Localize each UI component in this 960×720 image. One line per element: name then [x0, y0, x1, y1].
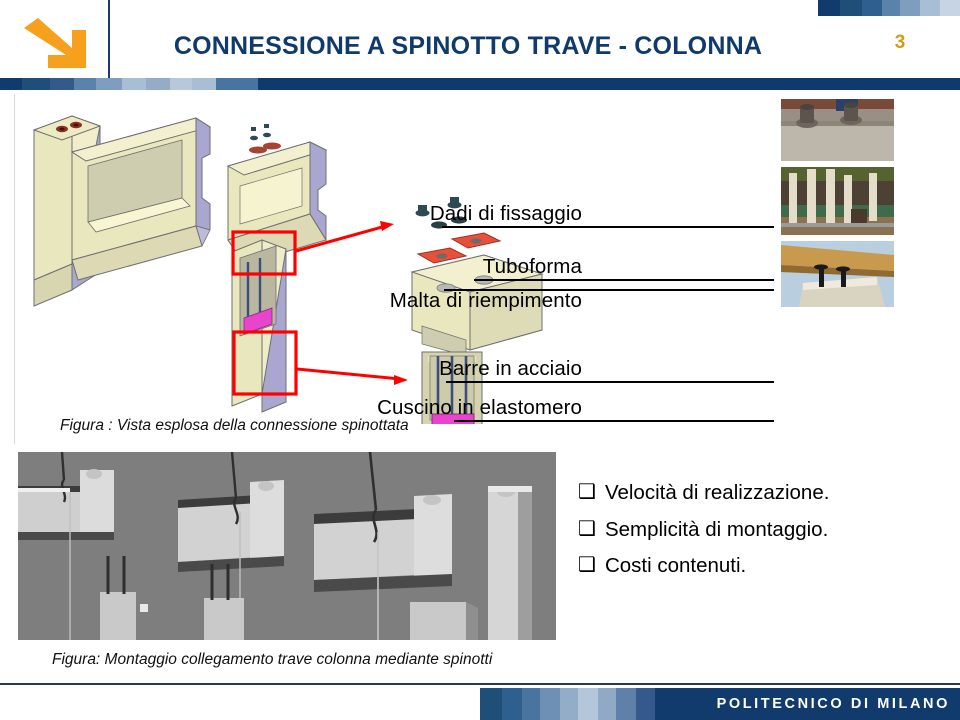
decorative-block	[192, 78, 216, 90]
slide: CONNESSIONE A SPINOTTO TRAVE - COLONNA 3	[0, 0, 960, 720]
list-item: ❑ Semplicità di montaggio.	[578, 519, 938, 541]
decorative-block	[840, 0, 862, 16]
label-malta: Malta di riempimento	[390, 289, 582, 313]
slide-header: CONNESSIONE A SPINOTTO TRAVE - COLONNA 3	[0, 0, 960, 84]
decorative-block	[74, 78, 96, 90]
footer-rule	[0, 683, 960, 685]
checkbox-bullet-icon: ❑	[578, 482, 596, 502]
label-barre: Barre in acciaio	[439, 357, 582, 381]
decorative-block	[560, 688, 578, 720]
decorative-block	[578, 688, 598, 720]
decorative-block	[216, 78, 258, 90]
decorative-block	[22, 78, 50, 90]
decorative-block	[170, 78, 192, 90]
figure-caption-top: Figura : Vista esplosa della connessione…	[60, 417, 409, 435]
decorative-block	[122, 78, 146, 90]
decorative-block	[862, 0, 882, 16]
page-title: CONNESSIONE A SPINOTTO TRAVE - COLONNA	[118, 26, 818, 66]
decorative-block	[50, 78, 74, 90]
header-decorative-blocks	[818, 0, 960, 16]
decorative-block	[920, 0, 940, 16]
header-bar-blocks	[0, 78, 258, 90]
list-item: ❑ Velocità di realizzazione.	[578, 482, 938, 504]
arrow-down-right-icon	[18, 18, 88, 72]
decorative-block	[146, 78, 170, 90]
checkbox-bullet-icon: ❑	[578, 555, 596, 575]
advantages-list: ❑ Velocità di realizzazione. ❑ Semplicit…	[578, 482, 938, 592]
cad-drawing	[14, 94, 774, 424]
list-item: ❑ Costi contenuti.	[578, 555, 938, 577]
photo-beam-column-joint	[781, 241, 894, 307]
decorative-block	[940, 0, 960, 16]
slide-footer: POLITECNICO DI MILANO	[0, 688, 960, 720]
decorative-block	[900, 0, 920, 16]
header-vertical-rule	[108, 0, 110, 78]
leader-arrow-bottom	[297, 369, 408, 385]
decorative-block	[96, 78, 122, 90]
footer-decorative-blocks	[480, 688, 655, 720]
decorative-block	[0, 78, 22, 90]
figure-caption-bottom: Figura: Montaggio collegamento trave col…	[52, 651, 492, 669]
decorative-block	[636, 688, 655, 720]
decorative-block	[502, 688, 522, 720]
decorative-block	[540, 688, 560, 720]
label-tuboforma: Tuboforma	[483, 255, 582, 279]
decorative-block	[882, 0, 900, 16]
list-item-label: Semplicità di montaggio.	[605, 519, 828, 541]
checkbox-bullet-icon: ❑	[578, 519, 596, 539]
decorative-block	[522, 688, 540, 720]
decorative-block	[598, 688, 616, 720]
decorative-block	[616, 688, 636, 720]
decorative-block	[818, 0, 840, 16]
exploded-diagram: Dadi di fissaggio Tuboforma Malta di rie…	[14, 94, 774, 424]
assembled-view	[34, 116, 210, 306]
decorative-block	[480, 688, 502, 720]
photo-bolts-on-concrete	[781, 99, 894, 161]
label-dadi: Dadi di fissaggio	[430, 202, 582, 226]
erection-photo	[18, 452, 556, 640]
header-bottom-bar	[0, 78, 960, 90]
list-item-label: Costi contenuti.	[605, 555, 746, 577]
page-number: 3	[885, 32, 915, 54]
exploded-nuts	[249, 124, 281, 154]
photo-tube-forms	[781, 167, 894, 235]
institution-name: POLITECNICO DI MILANO	[655, 688, 950, 720]
middle-view	[228, 124, 408, 412]
list-item-label: Velocità di realizzazione.	[605, 482, 830, 504]
